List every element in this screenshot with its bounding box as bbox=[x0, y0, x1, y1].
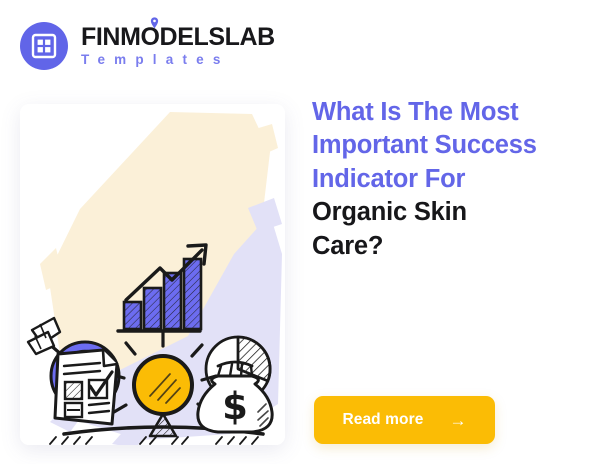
svg-text:$: $ bbox=[222, 385, 248, 428]
brand-mark-circle bbox=[20, 22, 68, 70]
headline-block: What Is The Most Important Success Indic… bbox=[312, 96, 582, 263]
read-more-label: Read more bbox=[342, 411, 423, 429]
page-title: What Is The Most Important Success Indic… bbox=[312, 96, 582, 263]
headline-accent-line-2: Important Success bbox=[312, 129, 582, 162]
headline-accent-line-1: What Is The Most bbox=[312, 96, 582, 129]
checklist-document bbox=[55, 350, 117, 424]
promo-banner: FINMODELSLAB Templates bbox=[0, 0, 600, 464]
business-success-metrics-illustration: $ bbox=[20, 104, 285, 445]
brand-subtitle: Templates bbox=[81, 50, 275, 70]
location-pin-icon bbox=[150, 17, 159, 33]
read-more-button[interactable]: Read more → bbox=[314, 396, 495, 444]
brand-text-block: FINMODELSLAB Templates bbox=[81, 22, 275, 70]
brand-name: FINMODELSLAB bbox=[81, 24, 275, 50]
headline-plain-line-1: Organic Skin bbox=[312, 196, 582, 229]
headline-accent-line-3: Indicator For bbox=[312, 163, 582, 196]
grid-squares-icon bbox=[31, 33, 57, 59]
arrow-right-icon: → bbox=[449, 412, 466, 429]
headline-plain-line-2: Care? bbox=[312, 230, 582, 263]
illustration-card: $ bbox=[20, 104, 285, 445]
brand-logo[interactable]: FINMODELSLAB Templates bbox=[20, 22, 275, 70]
